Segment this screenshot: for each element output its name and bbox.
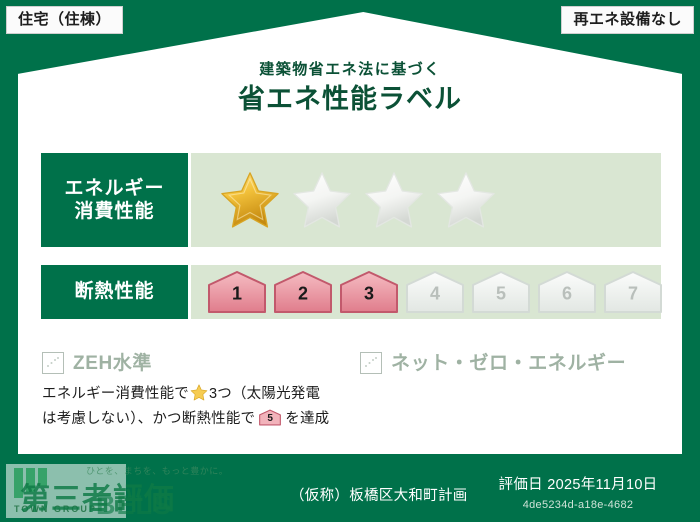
star-icon-1 (219, 170, 281, 230)
star-icon-3 (363, 170, 425, 230)
footer-bar: （仮称）板橋区大和町計画 評価日 2025年11月10日 4de5234d-a1… (0, 462, 700, 522)
dots-icon (45, 355, 61, 371)
house-icon-3: 3 (338, 269, 400, 315)
evaluation-id: 4de5234d-a18e-4682 (478, 500, 678, 511)
zeh-desc-part3: は考慮しない）、かつ断熱性能で (42, 411, 255, 427)
house-icon-5: 5 (470, 269, 532, 315)
energy-performance-label: 住宅（住棟） 再エネ設備なし 建築物省エネ法に基づく 省エネ性能ラベル エネルギ… (0, 0, 700, 522)
net-zero-checkbox[interactable] (360, 352, 382, 374)
energy-label-line1: エネルギー (64, 177, 164, 200)
insulation-performance-row: 断熱性能 1 2 (40, 264, 662, 320)
title-subtitle: 建築物省エネ法に基づく (0, 62, 700, 77)
evaluation-date: 評価日 2025年11月10日 (478, 478, 678, 493)
energy-performance-row: エネルギー 消費性能 (40, 152, 662, 248)
grade-number: 4 (404, 284, 466, 302)
zeh-title: ZEH水準 (73, 354, 152, 373)
zeh-desc-part4: を達成 (285, 411, 329, 427)
insulation-performance-label-cell: 断熱性能 (41, 265, 191, 319)
inline-house-number: 5 (257, 414, 283, 424)
grade-scale: 1 2 3 4 (191, 269, 664, 315)
insulation-label: 断熱性能 (74, 280, 154, 303)
house-icon-4: 4 (404, 269, 466, 315)
renewable-equipment-badge: 再エネ設備なし (561, 6, 694, 34)
zeh-header: ZEH水準 (42, 352, 352, 374)
inline-star-icon (190, 384, 208, 408)
grade-number: 2 (272, 284, 334, 302)
zeh-checkbox[interactable] (42, 352, 64, 374)
dots-icon (363, 355, 379, 371)
energy-label-line2: 消費性能 (74, 200, 154, 223)
star-icon-2 (291, 170, 353, 230)
house-icon-2: 2 (272, 269, 334, 315)
evaluation-date-block: 評価日 2025年11月10日 4de5234d-a18e-4682 (478, 478, 678, 511)
zeh-desc-part1: エネルギー消費性能で (42, 386, 189, 402)
grade-number: 6 (536, 284, 598, 302)
house-icon-6: 6 (536, 269, 598, 315)
building-type-badge: 住宅（住棟） (6, 6, 123, 34)
zeh-description: エネルギー消費性能で 3つ（太陽光発電 は考慮しない）、かつ断熱性能で 5を達成 (42, 383, 352, 431)
inline-house-icon: 5 (257, 409, 283, 426)
grade-number: 3 (338, 284, 400, 302)
house-icon-7: 7 (602, 269, 664, 315)
star-rating (191, 170, 497, 230)
energy-rating-body (191, 153, 661, 247)
grade-number: 7 (602, 284, 664, 302)
star-icon-4 (435, 170, 497, 230)
zeh-criteria-block: ZEH水準 エネルギー消費性能で 3つ（太陽光発電 は考慮しない）、かつ断熱性能… (42, 352, 352, 431)
grade-number: 5 (470, 284, 532, 302)
grade-number: 1 (206, 284, 268, 302)
net-zero-criteria-block: ネット・ゼロ・エネルギー (360, 352, 650, 374)
net-zero-header: ネット・ゼロ・エネルギー (360, 352, 650, 374)
project-name: （仮称）板橋区大和町計画 (290, 484, 468, 505)
insulation-rating-body: 1 2 3 4 (191, 265, 664, 319)
house-icon-1: 1 (206, 269, 268, 315)
zeh-desc-part2: 3つ（太陽光発電 (209, 386, 320, 402)
energy-performance-label-cell: エネルギー 消費性能 (41, 153, 191, 247)
page-title: 省エネ性能ラベル (0, 86, 700, 113)
title-block: 建築物省エネ法に基づく 省エネ性能ラベル (0, 62, 700, 113)
net-zero-title: ネット・ゼロ・エネルギー (391, 354, 626, 373)
